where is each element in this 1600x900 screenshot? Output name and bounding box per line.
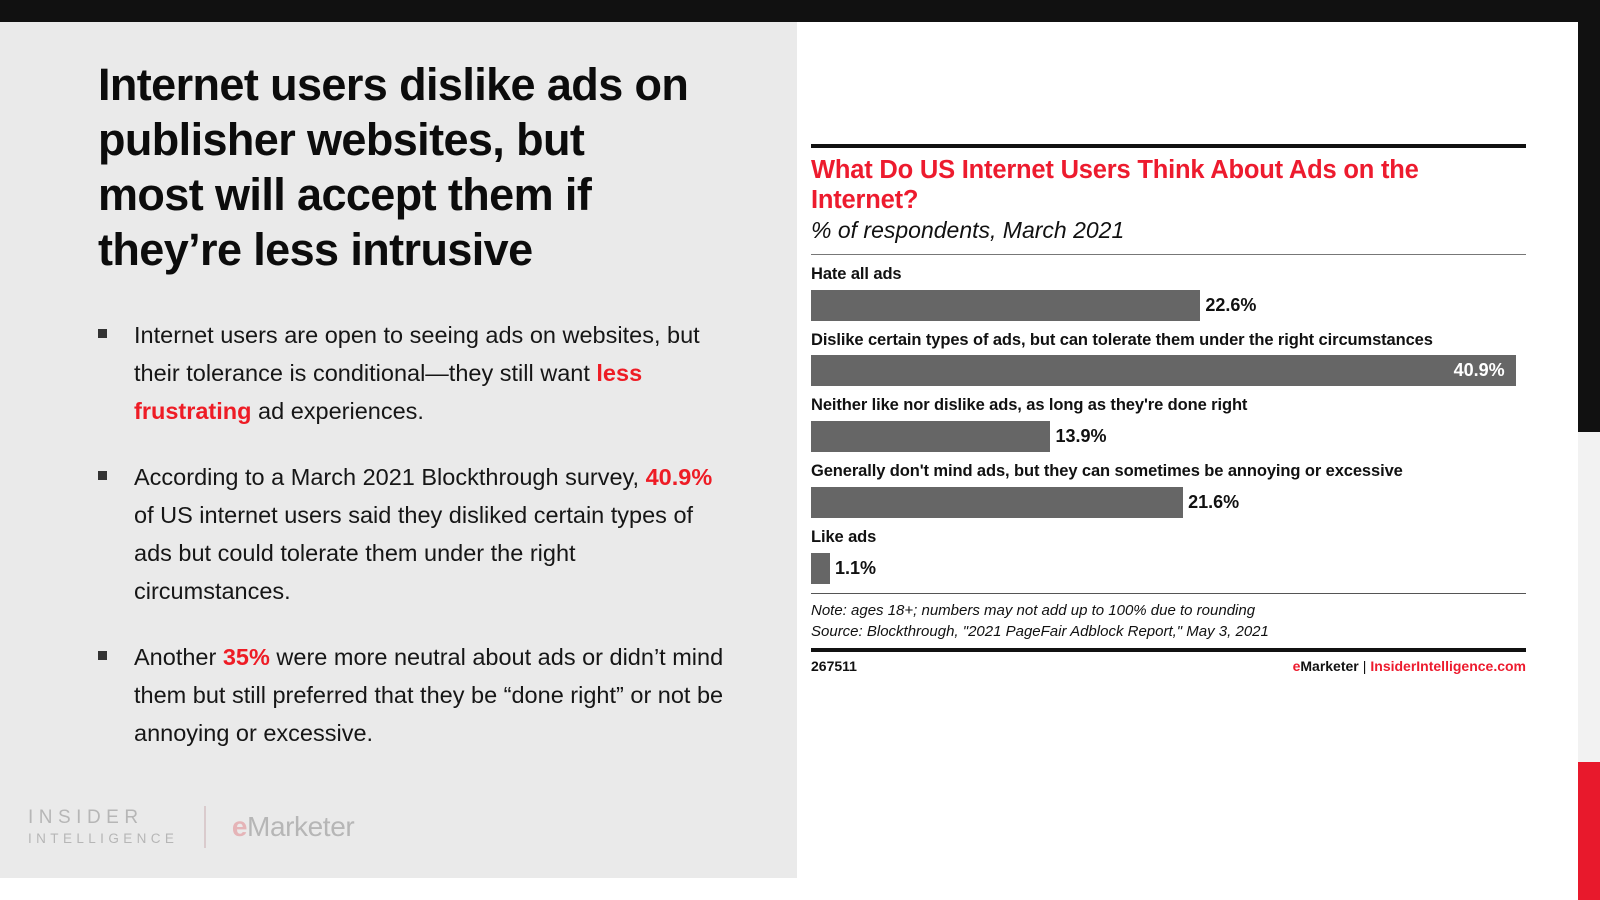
- bar-fill: [811, 553, 830, 584]
- attribution-marketer: Marketer: [1300, 658, 1358, 674]
- bar-group: Like ads 1.1%: [811, 527, 1526, 584]
- bar-row: 22.6%: [811, 290, 1526, 321]
- bar-category-label: Dislike certain types of ads, but can to…: [811, 330, 1526, 352]
- bar-category-label: Like ads: [811, 527, 1526, 549]
- logo-line-insider: INSIDER: [28, 806, 144, 830]
- bar-row: 13.9%: [811, 421, 1526, 452]
- bar-value-label: 40.9%: [1454, 360, 1516, 381]
- bar-value-label: 21.6%: [1188, 492, 1239, 513]
- top-accent-bar: [0, 0, 1600, 22]
- bar-row: 40.9%: [811, 355, 1526, 386]
- slide-headline: Internet users dislike ads on publisher …: [98, 58, 698, 278]
- chart-id: 267511: [811, 658, 857, 674]
- chart-title: What Do US Internet Users Think About Ad…: [811, 156, 1526, 215]
- attribution-separator: |: [1359, 658, 1371, 674]
- emarketer-wordmark: eMarketer: [232, 811, 354, 843]
- right-accent-band-red: [1578, 762, 1600, 900]
- right-accent-band-grey: [1578, 432, 1600, 762]
- bar-value-label: 22.6%: [1205, 295, 1256, 316]
- chart-notes: Note: ages 18+; numbers may not add up t…: [811, 594, 1526, 648]
- bullet-text-pre: Another: [134, 644, 223, 670]
- bar-row: 21.6%: [811, 487, 1526, 518]
- bar-category-label: Hate all ads: [811, 264, 1526, 286]
- chart-top-rule: [811, 144, 1526, 148]
- bullet-highlight: 35%: [223, 644, 270, 670]
- bullet-marker-icon: [98, 651, 107, 660]
- bullet-list: Internet users are open to seeing ads on…: [98, 316, 737, 753]
- chart-footer: 267511 eMarketer|InsiderIntelligence.com: [811, 652, 1526, 674]
- bar-group: Hate all ads 22.6%: [811, 264, 1526, 321]
- emarketer-e: e: [232, 811, 247, 842]
- logo-divider: [204, 806, 206, 848]
- bar-chart-plot: Hate all ads 22.6% Dislike certain types…: [811, 255, 1526, 584]
- right-accent-band-black: [1578, 0, 1600, 432]
- bullet-text-post: of US internet users said they disliked …: [134, 502, 693, 604]
- list-item: Internet users are open to seeing ads on…: [98, 316, 737, 430]
- bar-fill: [811, 487, 1183, 518]
- bullet-marker-icon: [98, 329, 107, 338]
- emarketer-rest: Marketer: [247, 811, 354, 842]
- chart-subtitle: % of respondents, March 2021: [811, 217, 1526, 245]
- chart-source-line: Source: Blockthrough, "2021 PageFair Adb…: [811, 621, 1526, 642]
- left-content-panel: Internet users dislike ads on publisher …: [0, 22, 797, 878]
- bar-row: 1.1%: [811, 553, 1526, 584]
- bar-group: Neither like nor dislike ads, as long as…: [811, 395, 1526, 452]
- chart-note-line: Note: ages 18+; numbers may not add up t…: [811, 600, 1526, 621]
- list-item: According to a March 2021 Blockthrough s…: [98, 458, 737, 610]
- bar-category-label: Neither like nor dislike ads, as long as…: [811, 395, 1526, 417]
- insider-intelligence-wordmark: INSIDER INTELLIGENCE: [28, 806, 178, 847]
- attribution-site: InsiderIntelligence.com: [1370, 658, 1526, 674]
- chart-card: What Do US Internet Users Think About Ad…: [811, 144, 1526, 674]
- logo-line-intelligence: INTELLIGENCE: [28, 830, 178, 848]
- bar-group: Dislike certain types of ads, but can to…: [811, 330, 1526, 387]
- bullet-highlight: 40.9%: [646, 464, 713, 490]
- bullet-text-post: ad experiences.: [252, 398, 424, 424]
- bar-fill: 40.9%: [811, 355, 1516, 386]
- bullet-text-pre: According to a March 2021 Blockthrough s…: [134, 464, 646, 490]
- bullet-marker-icon: [98, 471, 107, 480]
- bar-category-label: Generally don't mind ads, but they can s…: [811, 461, 1526, 483]
- chart-attribution: eMarketer|InsiderIntelligence.com: [1293, 658, 1526, 674]
- list-item: Another 35% were more neutral about ads …: [98, 638, 737, 752]
- bar-value-label: 1.1%: [835, 558, 876, 579]
- bar-group: Generally don't mind ads, but they can s…: [811, 461, 1526, 518]
- bar-fill: [811, 421, 1050, 452]
- insider-intelligence-emarketer-logo: INSIDER INTELLIGENCE eMarketer: [28, 806, 354, 848]
- bar-value-label: 13.9%: [1055, 426, 1106, 447]
- bar-fill: [811, 290, 1200, 321]
